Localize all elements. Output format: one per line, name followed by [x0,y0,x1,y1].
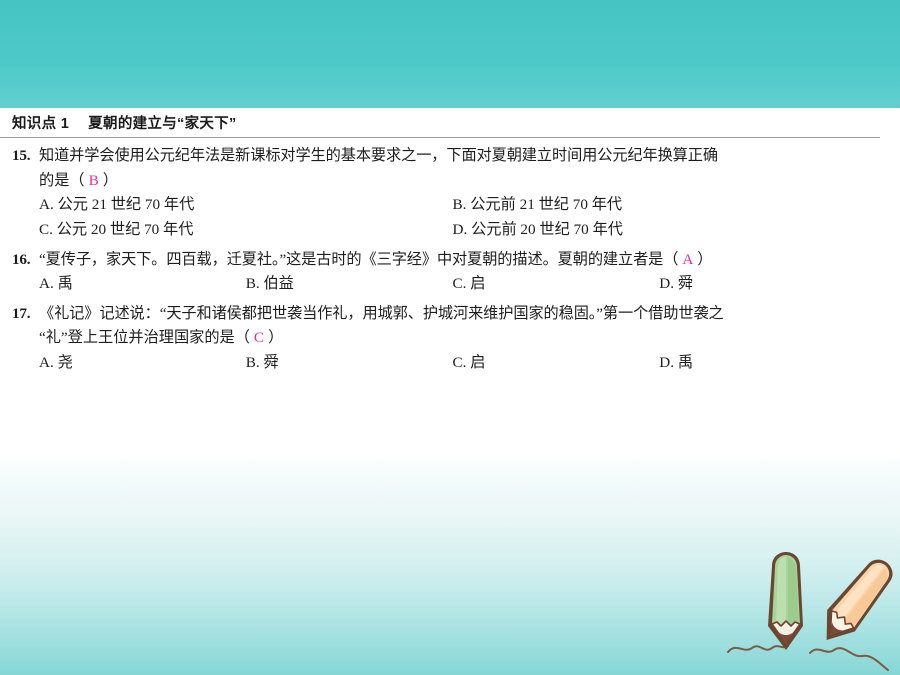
question-17-answer-letter: C [250,329,268,346]
option-text: 公元 20 世纪 70 年代 [57,221,194,238]
knowledge-point-header: 知识点 1 夏朝的建立与“家天下” [0,108,880,138]
option-label: B. [453,196,467,213]
questions-container: 15. 知道并学会使用公元纪年法是新课标对学生的基本要求之一，下面对夏朝建立时间… [0,138,880,381]
question-16-stem: “夏传子，家天下。四百载，迁夏社。”这是古时的《三字经》中对夏朝的描述。夏朝的建… [39,248,866,273]
option-text: 禹 [678,354,693,371]
question-17-stem-tail: “礼”登上王位并治理国家的是（ [39,329,250,346]
question-16-stem-line: 16. “夏传子，家天下。四百载，迁夏社。”这是古时的《三字经》中对夏朝的描述。… [12,248,866,273]
green-pencil-icon [768,552,803,650]
question-15-options-row-1: A. 公元 21 世纪 70 年代 B. 公元前 21 世纪 70 年代 [12,193,866,218]
question-17-answer-line: “礼”登上王位并治理国家的是（C） [12,326,866,351]
option-text: 公元前 20 世纪 70 年代 [471,221,623,238]
question-17: 17. 《礼记》记述说：“天子和诸侯都把世袭当作礼，用城郭、护城河来维护国家的稳… [12,302,866,376]
option-label: A. [39,354,54,371]
question-16-option-d[interactable]: D. 舜 [659,272,866,297]
question-16-number: 16. [12,248,39,273]
question-15-option-d[interactable]: D. 公元前 20 世纪 70 年代 [453,218,867,243]
question-17-option-a[interactable]: A. 尧 [39,351,246,376]
question-17-option-b[interactable]: B. 舜 [246,351,453,376]
question-15-stem-line: 15. 知道并学会使用公元纪年法是新课标对学生的基本要求之一，下面对夏朝建立时间… [12,144,866,169]
option-text: 启 [470,354,485,371]
question-16-option-b[interactable]: B. 伯益 [246,272,453,297]
option-label: A. [39,196,54,213]
squiggle-left-icon [728,646,788,652]
option-label: C. [453,354,467,371]
option-text: 公元前 21 世纪 70 年代 [470,196,622,213]
option-label: A. [39,275,54,292]
question-17-number: 17. [12,302,39,327]
question-16-option-c[interactable]: C. 启 [453,272,660,297]
question-16-answer-letter: A [678,251,697,268]
top-teal-band [0,0,900,108]
option-text: 舜 [263,354,278,371]
option-label: D. [659,354,674,371]
knowledge-point-title: 知识点 1 夏朝的建立与“家天下” [12,112,237,133]
question-15-answer-letter: B [85,172,103,189]
option-text: 舜 [678,275,693,292]
option-text: 公元 21 世纪 70 年代 [58,196,195,213]
question-15-option-a[interactable]: A. 公元 21 世纪 70 年代 [39,193,453,218]
pencils-decoration [700,530,900,675]
question-15-option-c[interactable]: C. 公元 20 世纪 70 年代 [39,218,453,243]
two-colored-pencils-illustration [700,530,900,675]
option-label: B. [246,275,260,292]
question-15-stem-tail: 的是（ [39,172,85,189]
option-label: D. [659,275,674,292]
question-15-paren-close: ） [103,172,118,189]
question-17-stem: 《礼记》记述说：“天子和诸侯都把世袭当作礼，用城郭、护城河来维护国家的稳固。”第… [39,302,866,327]
question-15-stem: 知道并学会使用公元纪年法是新课标对学生的基本要求之一，下面对夏朝建立时间用公元纪… [39,144,866,169]
orange-pencil-icon [812,552,900,651]
question-15: 15. 知道并学会使用公元纪年法是新课标对学生的基本要求之一，下面对夏朝建立时间… [12,144,866,243]
content-card: 知识点 1 夏朝的建立与“家天下” 15. 知道并学会使用公元纪年法是新课标对学… [0,108,880,456]
question-16-option-a[interactable]: A. 禹 [39,272,246,297]
question-15-option-b[interactable]: B. 公元前 21 世纪 70 年代 [453,193,867,218]
option-label: D. [453,221,468,238]
option-text: 启 [470,275,485,292]
question-15-answer-line: 的是（B） [12,169,866,194]
option-label: C. [39,221,53,238]
option-label: B. [246,354,260,371]
question-16: 16. “夏传子，家天下。四百载，迁夏社。”这是古时的《三字经》中对夏朝的描述。… [12,248,866,297]
question-17-option-d[interactable]: D. 禹 [659,351,866,376]
question-17-option-c[interactable]: C. 启 [453,351,660,376]
question-17-stem-line: 17. 《礼记》记述说：“天子和诸侯都把世袭当作礼，用城郭、护城河来维护国家的稳… [12,302,866,327]
question-17-options-row: A. 尧 B. 舜 C. 启 D. 禹 [12,351,866,376]
squiggle-right-icon [810,648,888,670]
question-15-options-row-2: C. 公元 20 世纪 70 年代 D. 公元前 20 世纪 70 年代 [12,218,866,243]
slide-canvas: 知识点 1 夏朝的建立与“家天下” 15. 知道并学会使用公元纪年法是新课标对学… [0,0,900,675]
option-text: 伯益 [263,275,293,292]
question-16-stem-text: “夏传子，家天下。四百载，迁夏社。”这是古时的《三字经》中对夏朝的描述。夏朝的建… [39,251,678,268]
option-label: C. [453,275,467,292]
option-text: 尧 [58,354,73,371]
question-16-paren-close: ） [697,251,712,268]
option-text: 禹 [58,275,73,292]
question-15-number: 15. [12,144,39,169]
question-17-paren-close: ） [268,329,283,346]
question-16-options-row: A. 禹 B. 伯益 C. 启 D. 舜 [12,272,866,297]
